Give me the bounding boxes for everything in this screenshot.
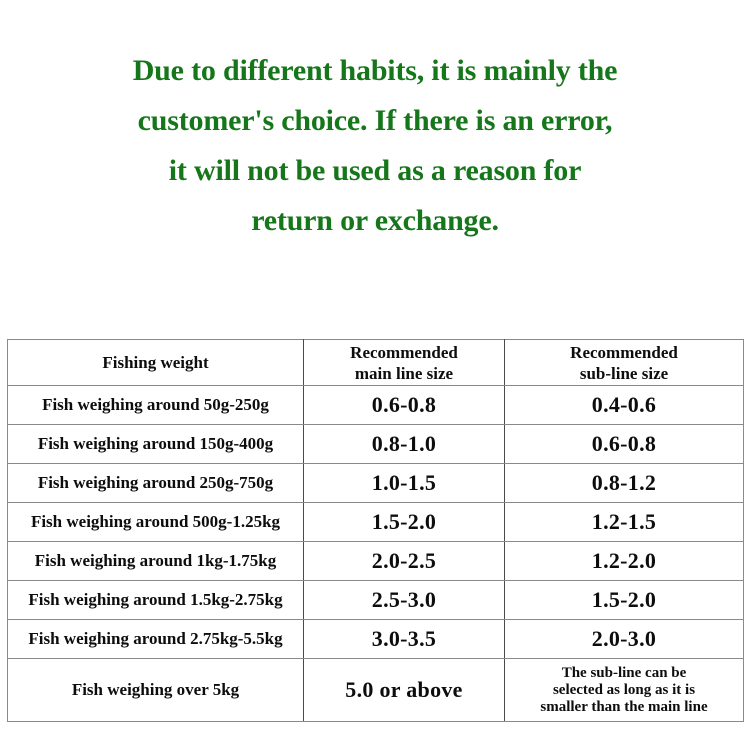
cell-sub-line-note-line-3: smaller than the main line bbox=[509, 699, 739, 716]
cell-fishing-weight: Fish weighing around 500g-1.25kg bbox=[8, 503, 304, 542]
column-header-sub-line-size-line-1: Recommended bbox=[570, 343, 678, 362]
cell-sub-line-note: The sub-line can be selected as long as … bbox=[505, 659, 744, 722]
cell-main-line-size: 0.6-0.8 bbox=[304, 386, 505, 425]
cell-main-line-size: 2.5-3.0 bbox=[304, 581, 505, 620]
column-header-main-line-size-line-2: main line size bbox=[355, 364, 453, 383]
cell-fishing-weight: Fish weighing around 150g-400g bbox=[8, 425, 304, 464]
cell-fishing-weight: Fish weighing around 2.75kg-5.5kg bbox=[8, 620, 304, 659]
cell-main-line-size: 1.5-2.0 bbox=[304, 503, 505, 542]
column-header-sub-line-size: Recommended sub-line size bbox=[505, 340, 744, 386]
cell-fishing-weight: Fish weighing around 50g-250g bbox=[8, 386, 304, 425]
cell-main-line-size: 0.8-1.0 bbox=[304, 425, 505, 464]
cell-sub-line-size: 0.6-0.8 bbox=[505, 425, 744, 464]
column-header-main-line-size: Recommended main line size bbox=[304, 340, 505, 386]
product-info-graphic: Due to different habits, it is mainly th… bbox=[0, 0, 750, 750]
cell-fishing-weight: Fish weighing around 250g-750g bbox=[8, 464, 304, 503]
table-header-row: Fishing weight Recommended main line siz… bbox=[8, 340, 744, 386]
cell-sub-line-size: 1.2-2.0 bbox=[505, 542, 744, 581]
heading-line-1: Due to different habits, it is mainly th… bbox=[28, 46, 722, 96]
cell-sub-line-size: 1.2-1.5 bbox=[505, 503, 744, 542]
heading-line-3: it will not be used as a reason for bbox=[28, 146, 722, 196]
table-row: Fish weighing around 1.5kg-2.75kg 2.5-3.… bbox=[8, 581, 744, 620]
table-row: Fish weighing around 250g-750g 1.0-1.5 0… bbox=[8, 464, 744, 503]
cell-sub-line-note-line-1: The sub-line can be bbox=[509, 665, 739, 682]
disclaimer-heading: Due to different habits, it is mainly th… bbox=[0, 46, 750, 246]
cell-main-line-size: 3.0-3.5 bbox=[304, 620, 505, 659]
line-size-table-container: Fishing weight Recommended main line siz… bbox=[7, 339, 743, 722]
cell-main-line-size: 5.0 or above bbox=[304, 659, 505, 722]
cell-fishing-weight: Fish weighing over 5kg bbox=[8, 659, 304, 722]
cell-main-line-size: 1.0-1.5 bbox=[304, 464, 505, 503]
table-body: Fish weighing around 50g-250g 0.6-0.8 0.… bbox=[8, 386, 744, 722]
heading-line-4: return or exchange. bbox=[28, 196, 722, 246]
table-row: Fish weighing around 500g-1.25kg 1.5-2.0… bbox=[8, 503, 744, 542]
cell-sub-line-size: 2.0-3.0 bbox=[505, 620, 744, 659]
heading-line-2: customer's choice. If there is an error, bbox=[28, 96, 722, 146]
cell-fishing-weight: Fish weighing around 1kg-1.75kg bbox=[8, 542, 304, 581]
table-row: Fish weighing around 50g-250g 0.6-0.8 0.… bbox=[8, 386, 744, 425]
cell-fishing-weight: Fish weighing around 1.5kg-2.75kg bbox=[8, 581, 304, 620]
cell-sub-line-size: 1.5-2.0 bbox=[505, 581, 744, 620]
line-size-table: Fishing weight Recommended main line siz… bbox=[7, 339, 744, 722]
cell-sub-line-size: 0.8-1.2 bbox=[505, 464, 744, 503]
table-row: Fish weighing around 150g-400g 0.8-1.0 0… bbox=[8, 425, 744, 464]
cell-sub-line-size: 0.4-0.6 bbox=[505, 386, 744, 425]
table-header: Fishing weight Recommended main line siz… bbox=[8, 340, 744, 386]
column-header-fishing-weight-line-1: Fishing weight bbox=[102, 353, 208, 372]
cell-main-line-size: 2.0-2.5 bbox=[304, 542, 505, 581]
table-row-over-5kg: Fish weighing over 5kg 5.0 or above The … bbox=[8, 659, 744, 722]
table-row: Fish weighing around 2.75kg-5.5kg 3.0-3.… bbox=[8, 620, 744, 659]
cell-sub-line-note-line-2: selected as long as it is bbox=[509, 682, 739, 699]
column-header-fishing-weight: Fishing weight bbox=[8, 340, 304, 386]
column-header-main-line-size-line-1: Recommended bbox=[350, 343, 458, 362]
table-row: Fish weighing around 1kg-1.75kg 2.0-2.5 … bbox=[8, 542, 744, 581]
column-header-sub-line-size-line-2: sub-line size bbox=[580, 364, 668, 383]
